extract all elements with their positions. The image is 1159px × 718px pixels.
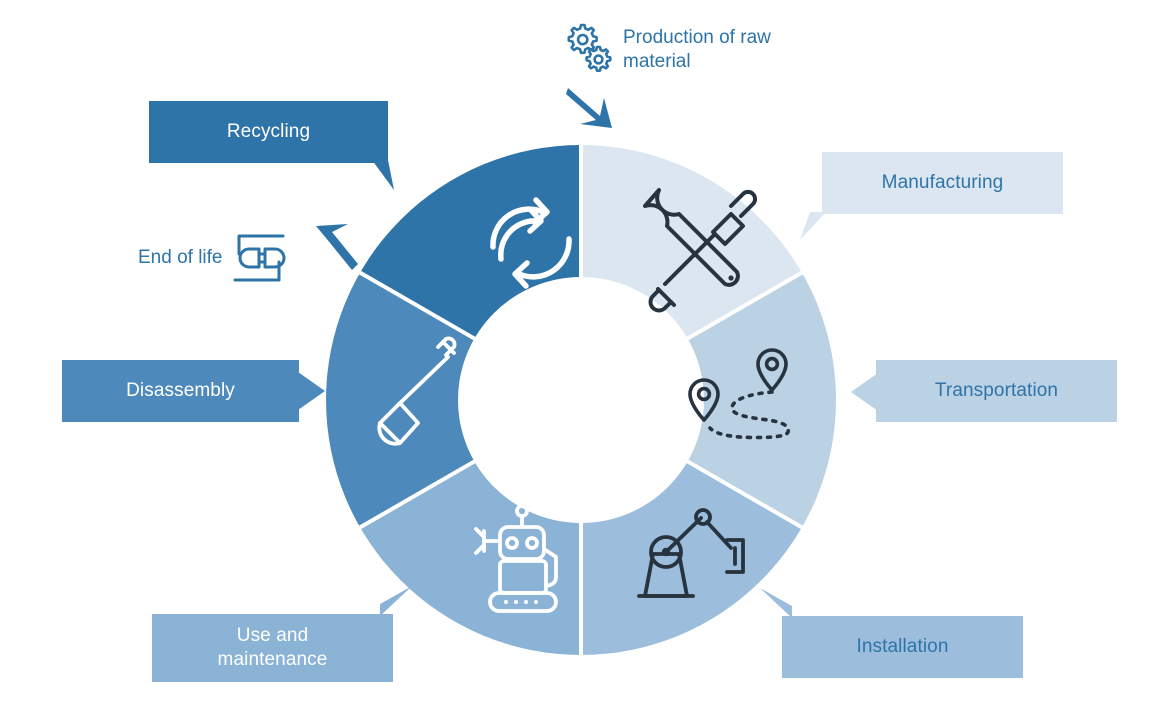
callout-transportation-tail	[851, 373, 879, 411]
callout-manufacturing[interactable]: Manufacturing	[822, 152, 1063, 214]
callout-disassembly[interactable]: Disassembly	[62, 360, 299, 422]
annotation-production-text: Production of raw material	[623, 22, 771, 74]
callout-manufacturing-label: Manufacturing	[882, 171, 1004, 195]
arrow-up-right-icon	[314, 222, 360, 272]
unplugged-plug-icon	[231, 232, 287, 284]
callout-transportation[interactable]: Transportation	[876, 360, 1117, 422]
callout-use-label-line2: maintenance	[218, 648, 328, 672]
annotation-production-of-raw-material: Production of raw material	[565, 22, 825, 86]
callout-recycling-tail	[372, 160, 402, 192]
callout-disassembly-label: Disassembly	[126, 379, 235, 403]
annotation-production-line2: material	[623, 51, 691, 72]
arrow-down-right-icon	[566, 86, 616, 132]
callout-recycling-label: Recycling	[227, 120, 310, 144]
callout-use-label-line1: Use and	[237, 624, 308, 648]
callout-transportation-label: Transportation	[935, 379, 1058, 403]
callout-installation-tail	[760, 588, 794, 620]
callout-installation-label: Installation	[856, 635, 948, 659]
annotation-end-of-life-label: End of life	[138, 247, 223, 269]
callout-disassembly-tail	[298, 372, 326, 410]
callout-recycling[interactable]: Recycling	[149, 101, 388, 163]
annotation-production-line1: Production of raw	[623, 27, 771, 48]
gears-icon	[565, 22, 613, 74]
callout-installation[interactable]: Installation	[782, 616, 1023, 678]
callout-use-tail	[378, 586, 412, 618]
callout-use-and-maintenance[interactable]: Use and maintenance	[152, 614, 393, 682]
annotation-end-of-life: End of life	[138, 232, 287, 284]
callout-manufacturing-tail	[796, 212, 826, 244]
diagram-canvas: Recycling Manufacturing Transportation I…	[0, 0, 1159, 718]
